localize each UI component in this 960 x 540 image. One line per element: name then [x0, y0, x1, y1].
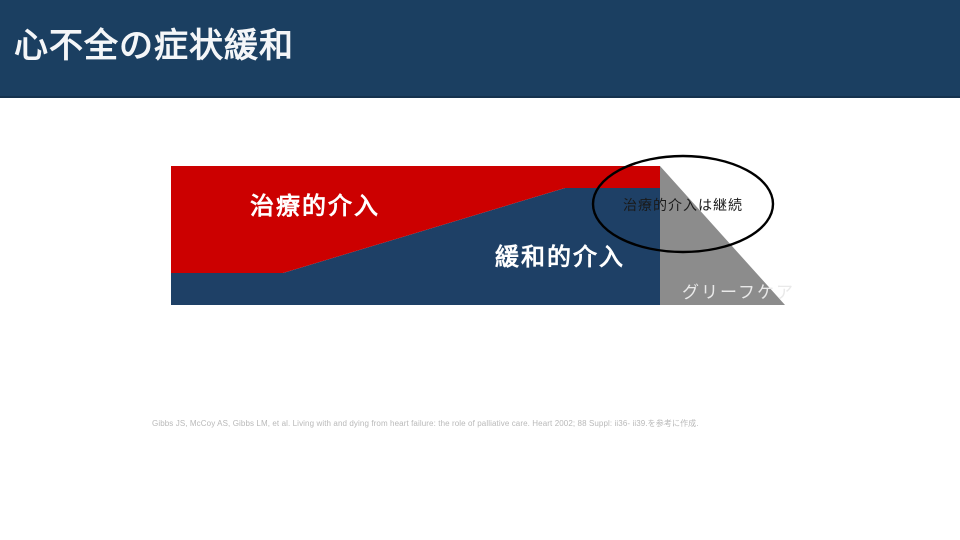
page-title: 心不全の症状緩和 — [14, 18, 294, 67]
diagram-area: 治療的介入 緩和的介入 グリーフケア 治療的介入は継続 Gibbs JS, Mc… — [0, 98, 960, 540]
slide-title-banner: 心不全の症状緩和 — [0, 0, 960, 98]
palliative-care-model-figure: 治療的介入 緩和的介入 グリーフケア 治療的介入は継続 Gibbs JS, Mc… — [150, 148, 850, 448]
callout-annotation: 治療的介入は継続 — [593, 156, 773, 253]
citation-text: Gibbs JS, McCoy AS, Gibbs LM, et al. Liv… — [152, 418, 852, 429]
callout-text: 治療的介入は継続 — [593, 156, 773, 253]
